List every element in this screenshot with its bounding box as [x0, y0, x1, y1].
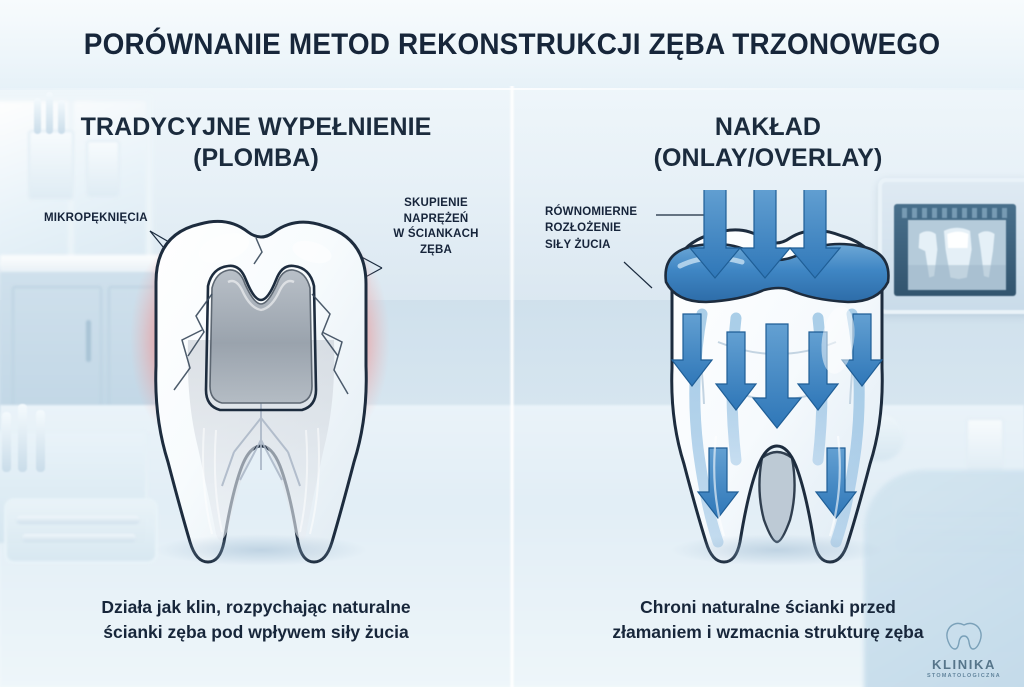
annotation-stress-line3: W ŚCIANKACH	[393, 228, 478, 240]
tooth-svg-right	[632, 190, 922, 570]
pulp-chamber-right	[759, 452, 794, 542]
panel-right-title: NAKŁAD (ONLAY/OVERLAY)	[512, 112, 1024, 173]
annotation-even-line3: SIŁY ŻUCIA	[545, 239, 611, 251]
caption-left-line1: Działa jak klin, rozpychając naturalne	[101, 597, 410, 617]
caption-left: Działa jak klin, rozpychając naturalne ś…	[24, 595, 488, 645]
tooth-illustration-filling	[116, 190, 406, 570]
panel-left-title: TRADYCYJNE WYPEŁNIENIE (PLOMBA)	[0, 112, 512, 173]
annotation-stress-line4: ZĘBA	[420, 244, 452, 256]
logo-subtitle: STOMATOLOGICZNA	[918, 673, 1010, 679]
annotation-even-line2: ROZŁOŻENIE	[545, 222, 621, 234]
caption-left-line2: ścianki zęba pod wpływem siły żucia	[103, 622, 408, 642]
caption-right-line2: złamaniem i wzmacnia strukturę zęba	[612, 622, 923, 642]
page-title: PORÓWNANIE METOD REKONSTRUKCJI ZĘBA TRZO…	[36, 28, 988, 62]
tooth-illustration-onlay	[632, 190, 922, 570]
annotation-even-force: RÓWNOMIERNE ROZŁOŻENIE SIŁY ŻUCIA	[545, 204, 637, 253]
panel-left-title-line2: (PLOMBA)	[193, 144, 319, 172]
caption-right-line1: Chroni naturalne ścianki przed	[640, 597, 896, 617]
panel-right-title-line1: NAKŁAD	[715, 113, 821, 141]
tooth-shadow-left	[154, 534, 369, 566]
infographic-canvas: PORÓWNANIE METOD REKONSTRUKCJI ZĘBA TRZO…	[0, 0, 1024, 687]
annotation-stress-line1: SKUPIENIE	[404, 197, 468, 209]
panel-left-title-line1: TRADYCYJNE WYPEŁNIENIE	[81, 113, 432, 141]
tooth-svg-left	[116, 190, 406, 570]
tooth-icon	[944, 622, 984, 652]
panel-right-title-line2: (ONLAY/OVERLAY)	[654, 144, 883, 172]
annotation-stress-line2: NAPRĘŻEŃ	[404, 213, 469, 225]
annotation-even-line1: RÓWNOMIERNE	[545, 206, 637, 218]
tooth-shadow-right	[670, 534, 885, 566]
clinic-logo: KLINIKA STOMATOLOGICZNA	[918, 622, 1010, 679]
logo-name: KLINIKA	[918, 657, 1010, 672]
